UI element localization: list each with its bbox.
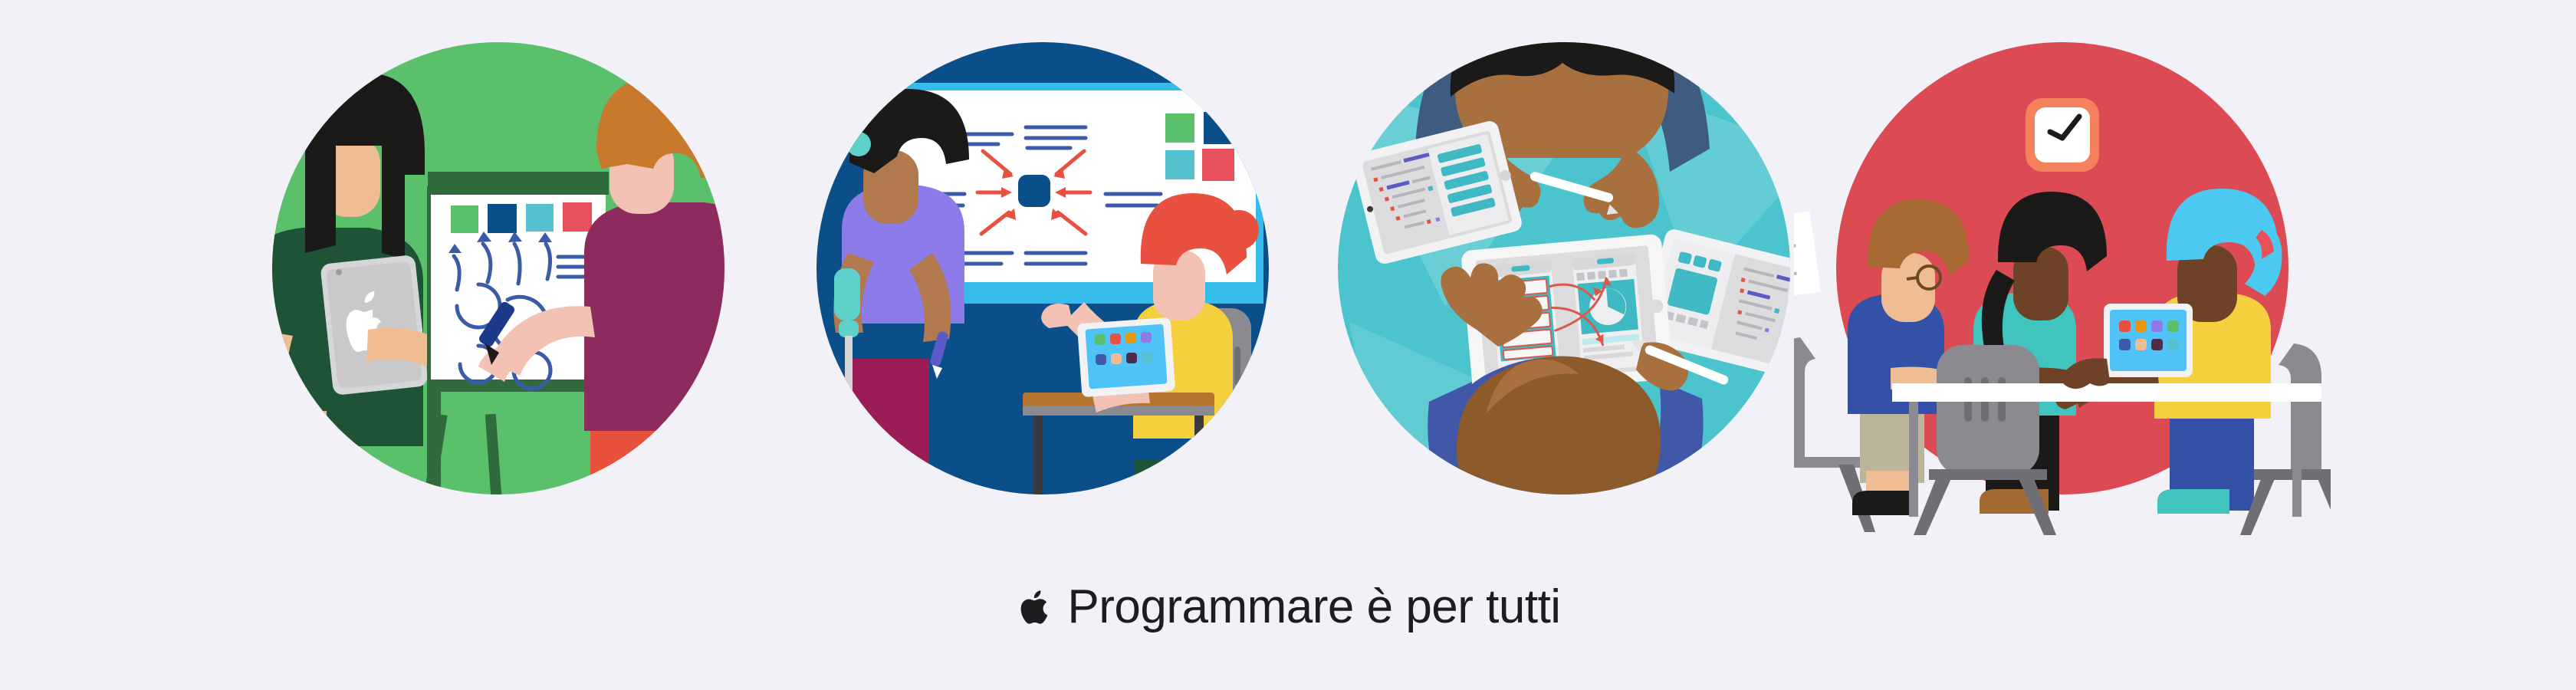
swatch-green xyxy=(1165,113,1194,143)
ipad-device-panel-1 xyxy=(320,255,428,396)
swatch-red xyxy=(1202,149,1234,181)
apple-logo xyxy=(1015,586,1050,629)
illustration-row xyxy=(0,0,2576,537)
worksheet-paper xyxy=(1794,211,1821,300)
ipad-device-panel-4 xyxy=(2104,304,2193,377)
banner-headline: Programmare è per tutti xyxy=(1067,583,1560,631)
swatch-navy xyxy=(488,204,517,233)
chair-edge-left xyxy=(1296,361,1322,480)
everyone-can-code-banner: Programmare è per tutti xyxy=(0,0,2576,690)
swatch-cyan xyxy=(526,204,554,232)
flipchart-brainstorm-illustration xyxy=(230,0,767,537)
classroom-table-illustration xyxy=(1794,0,2331,537)
ipad-device-panel-2 xyxy=(1077,317,1175,397)
wireframe-chart-screen xyxy=(1572,253,1645,372)
swatch-cyan xyxy=(1165,150,1194,179)
whiteboard-mindmap-illustration xyxy=(774,0,1311,537)
swatch-navy xyxy=(1204,112,1236,144)
swatch-green xyxy=(451,205,478,233)
swatch-red xyxy=(563,202,592,232)
wall-clock xyxy=(2026,98,2099,172)
mindmap-center-node xyxy=(1018,175,1050,207)
brand-lockup: Programmare è per tutti xyxy=(0,537,2576,690)
overhead-ipad-collaboration-illustration xyxy=(1296,0,1832,537)
